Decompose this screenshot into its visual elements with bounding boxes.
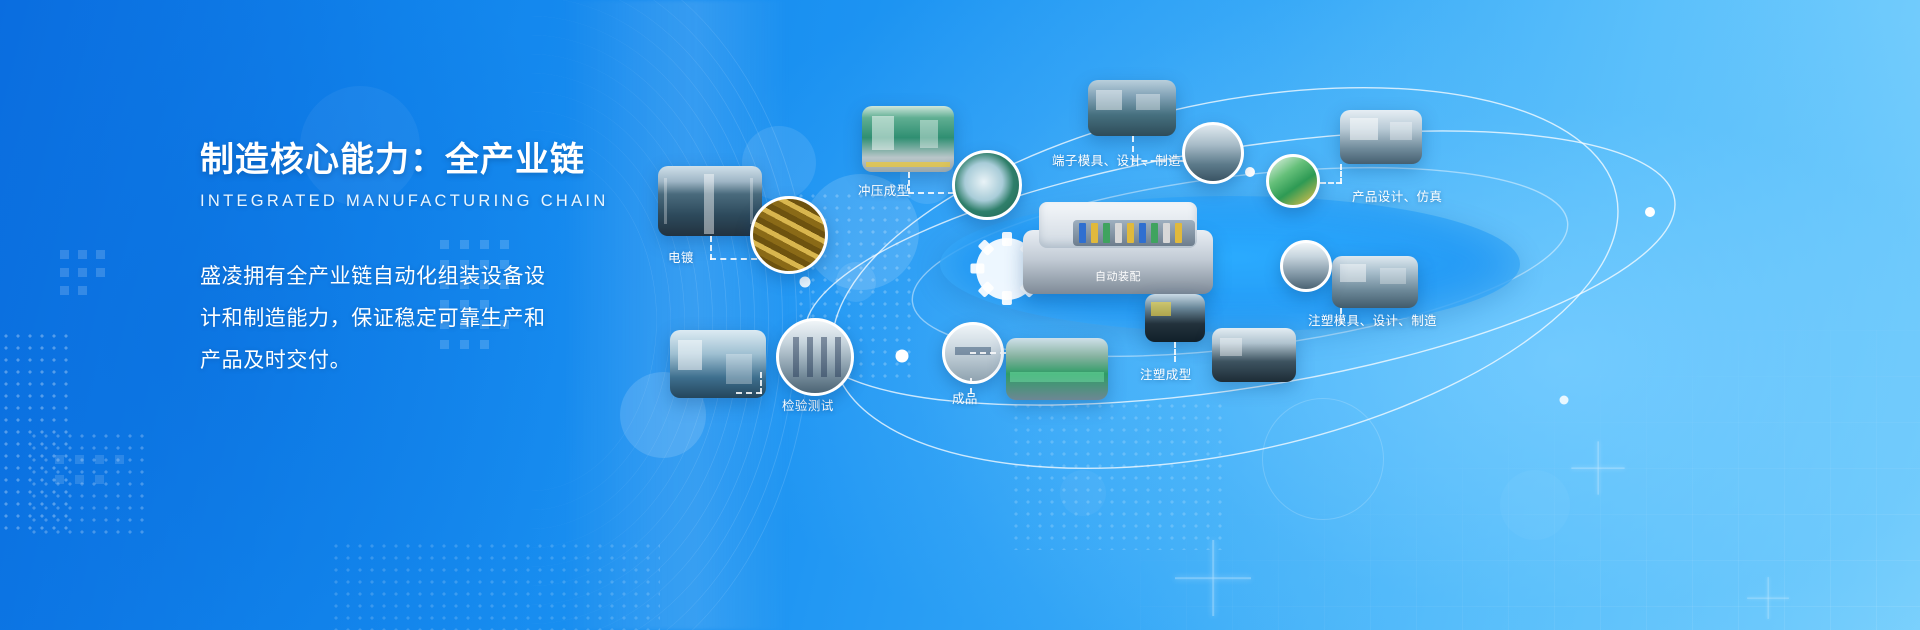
node-label-terminal-mold: 端子模具、设计、制造 [1052, 150, 1181, 169]
node-label-product-design: 产品设计、仿真 [1352, 186, 1442, 205]
description-paragraph: 盛凌拥有全产业链自动化组装设备设 计和制造能力，保证稳定可靠生产和 产品及时交付… [200, 256, 620, 382]
center-label: 自动装配 [1023, 268, 1213, 284]
connector-vert-product-design [1340, 164, 1342, 184]
test-fixture-photo [776, 318, 854, 396]
description-line-2: 计和制造能力，保证稳定可靠生产和 [200, 298, 620, 340]
machine-top [1039, 202, 1197, 248]
molding-machine-photo [1212, 328, 1296, 382]
node-label-injection-forming: 注塑成型 [1140, 364, 1192, 383]
dot-field-left2 [28, 430, 148, 540]
connector-vert-electroplating [710, 236, 712, 260]
machine-slot [1073, 220, 1195, 246]
description-line-1: 盛凌拥有全产业链自动化组装设备设 [200, 256, 620, 298]
plated-part-photo [750, 196, 828, 274]
node-label-inspection: 检验测试 [782, 395, 834, 414]
inspection-test-photo [670, 330, 766, 398]
factory-line-photo [658, 166, 762, 236]
connector-vert-inspection [760, 372, 762, 394]
design-simulation-photo [1340, 110, 1422, 164]
product-3d-model-photo [1266, 154, 1320, 208]
page-subtitle: INTEGRATED MANUFACTURING CHAIN [200, 192, 620, 211]
process-diagram: 自动装配 电镀 冲压成型 [640, 0, 1920, 630]
injection-mold-photo [1332, 256, 1418, 308]
page-title: 制造核心能力：全产业链 [200, 140, 620, 181]
automated-assembly-machine: 自动装配 [1023, 194, 1213, 304]
headline-block: 制造核心能力：全产业链 INTEGRATED MANUFACTURING CHA… [200, 140, 620, 382]
connector-vert-injection-forming [1174, 342, 1176, 362]
stamped-part-photo [952, 150, 1022, 220]
injection-molding-photo [1145, 294, 1205, 342]
mold-workshop-photo [1088, 80, 1176, 136]
connector-horiz-inspection [736, 392, 762, 394]
description-line-3: 产品及时交付。 [200, 340, 620, 382]
mold-part-photo [1280, 240, 1332, 292]
assembly-line-photo [1006, 338, 1108, 400]
dot-field-left [0, 330, 70, 530]
node-label-electroplating: 电镀 [668, 247, 694, 266]
node-label-stamping: 冲压成型 [858, 180, 910, 199]
node-label-finished-product: 成品 [952, 388, 978, 407]
manufacturing-banner: 制造核心能力：全产业链 INTEGRATED MANUFACTURING CHA… [0, 0, 1920, 630]
node-label-injection-mold: 注塑模具、设计、制造 [1308, 310, 1437, 329]
terminal-mold-photo [1182, 122, 1244, 184]
dot-field-bottom [330, 540, 660, 630]
stamping-machine-photo [862, 106, 954, 172]
